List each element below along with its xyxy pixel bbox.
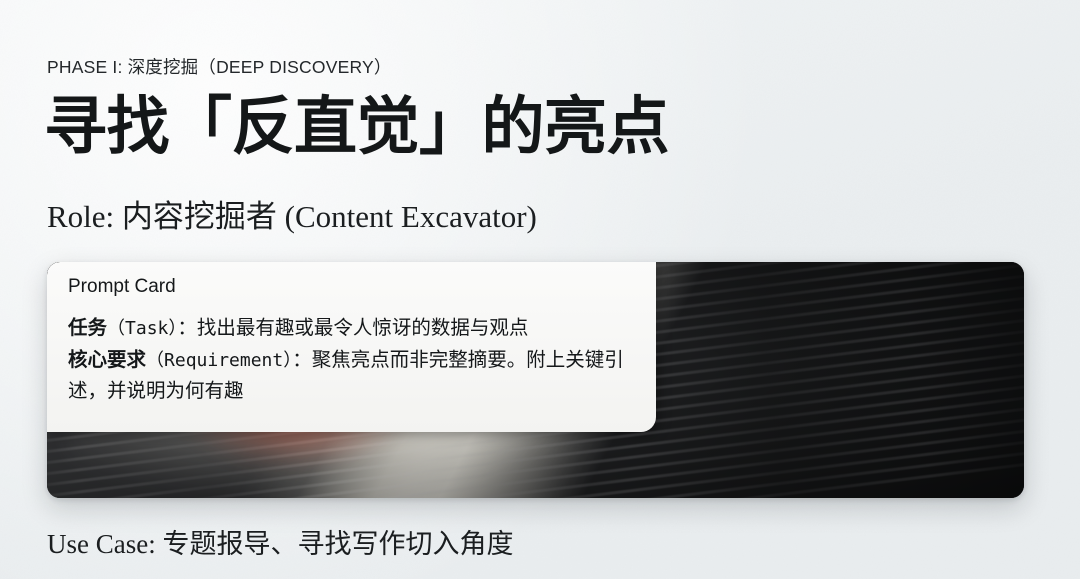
requirement-sep: ： (292, 349, 312, 371)
requirement-paren: （Requirement） (146, 350, 292, 371)
role-line: Role: 内容挖掘者 (Content Excavator) (47, 191, 537, 236)
slide-root: PHASE I: 深度挖掘（DEEP DISCOVERY） 寻找「反直觉」的亮点… (0, 0, 1080, 579)
page-title: 寻找「反直觉」的亮点 (44, 92, 669, 163)
task-sep: ： (177, 317, 197, 339)
task-paren: （Task） (107, 318, 177, 339)
task-text: 找出最有趣或最令人惊讶的数据与观点 (197, 317, 529, 339)
task-label: 任务 (68, 317, 107, 339)
requirement-line: 核心要求（Requirement）：聚焦亮点而非完整摘要。附上关键引述，并说明为… (68, 345, 634, 408)
phase-label: PHASE I: 深度挖掘（DEEP DISCOVERY） (47, 54, 392, 79)
prompt-panel: Prompt Card 任务（Task）：找出最有趣或最令人惊讶的数据与观点 核… (47, 262, 656, 432)
prompt-card: Prompt Card 任务（Task）：找出最有趣或最令人惊讶的数据与观点 核… (47, 262, 1024, 498)
requirement-label: 核心要求 (68, 349, 146, 371)
prompt-card-tab[interactable]: Prompt Card (47, 262, 202, 307)
task-line: 任务（Task）：找出最有趣或最令人惊讶的数据与观点 (68, 313, 634, 345)
prompt-body: 任务（Task）：找出最有趣或最令人惊讶的数据与观点 核心要求（Requirem… (47, 307, 656, 432)
use-case-line: Use Case: 专题报导、寻找写作切入角度 (47, 522, 513, 561)
